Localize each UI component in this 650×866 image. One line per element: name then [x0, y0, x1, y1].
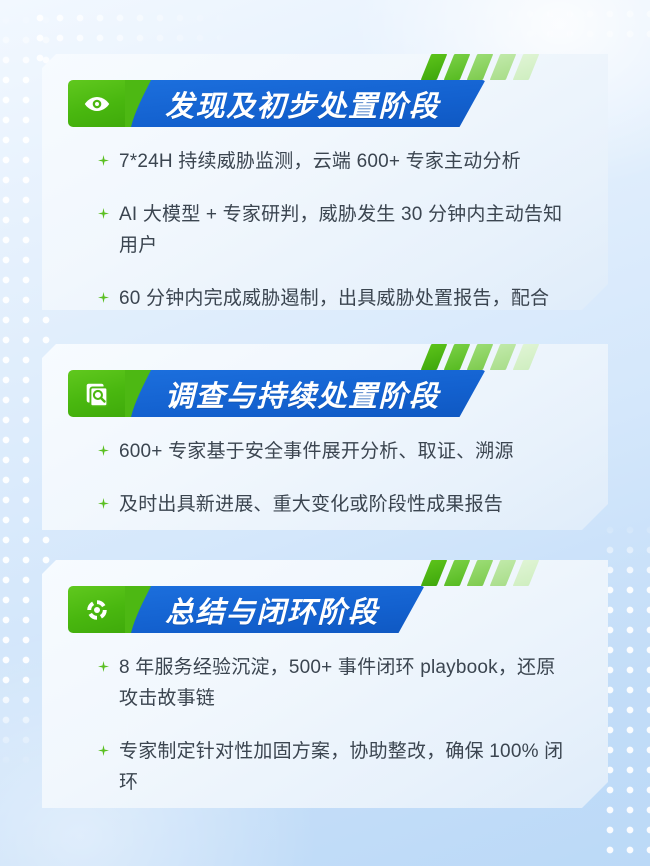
list-item-text: 专家制定针对性加固方案，协助整改，确保 100% 闭环 [119, 736, 568, 798]
sparkle-bullet-icon [98, 155, 112, 166]
sparkle-bullet-icon [98, 661, 112, 672]
card-2-title-banner: 调查与持续处置阶段 [125, 370, 486, 417]
banner-curve-divider [125, 586, 151, 633]
banner-curve-divider [125, 80, 151, 127]
green-stripe-decoration [426, 54, 586, 80]
card-3-bullet-list: 8 年服务经验沉淀，500+ 事件闭环 playbook，还原攻击故事链 专家制… [98, 652, 568, 851]
card-1-title: 发现及初步处置阶段 [165, 83, 440, 125]
card-2-banner: 调查与持续处置阶段 [68, 370, 486, 417]
list-item: 60 分钟内完成威胁遏制，出具威胁处置报告，配合用户初步应答 [98, 283, 568, 345]
list-item-text: 全面复盘，提供完整事件应急响应总结报告 [119, 820, 484, 851]
stage-card-1: 发现及初步处置阶段 7*24H 持续威胁监测，云端 600+ 专家主动分析 AI… [42, 54, 608, 310]
sparkle-bullet-icon [98, 445, 112, 456]
list-item-text: 8 年服务经验沉淀，500+ 事件闭环 playbook，还原攻击故事链 [119, 652, 568, 714]
green-stripe-decoration [426, 344, 586, 370]
card-2-title: 调查与持续处置阶段 [165, 373, 440, 415]
list-item: 全面复盘，提供完整事件应急响应总结报告 [98, 820, 568, 851]
sparkle-bullet-icon [98, 829, 112, 840]
card-2-bullet-list: 600+ 专家基于安全事件展开分析、取证、溯源 及时出具新进展、重大变化或阶段性… [98, 436, 568, 520]
sparkle-bullet-icon [98, 745, 112, 756]
list-item-text: 600+ 专家基于安全事件展开分析、取证、溯源 [119, 436, 514, 467]
card-3-title-banner: 总结与闭环阶段 [125, 586, 425, 633]
document-search-icon [68, 370, 126, 417]
background-dot-pattern-top-right [480, 4, 650, 48]
card-3-banner: 总结与闭环阶段 [68, 586, 425, 633]
sparkle-bullet-icon [98, 208, 112, 219]
green-stripe-decoration [426, 560, 586, 586]
card-3-title: 总结与闭环阶段 [165, 589, 379, 631]
list-item-text: AI 大模型 + 专家研判，威胁发生 30 分钟内主动告知用户 [119, 199, 568, 261]
list-item: AI 大模型 + 专家研判，威胁发生 30 分钟内主动告知用户 [98, 199, 568, 261]
list-item-text: 7*24H 持续威胁监测，云端 600+ 专家主动分析 [119, 146, 521, 177]
card-1-bullet-list: 7*24H 持续威胁监测，云端 600+ 专家主动分析 AI 大模型 + 专家研… [98, 146, 568, 345]
infographic-stage: 发现及初步处置阶段 7*24H 持续威胁监测，云端 600+ 专家主动分析 AI… [0, 0, 650, 866]
list-item-text: 及时出具新进展、重大变化或阶段性成果报告 [119, 489, 503, 520]
list-item: 8 年服务经验沉淀，500+ 事件闭环 playbook，还原攻击故事链 [98, 652, 568, 714]
stage-card-3: 总结与闭环阶段 8 年服务经验沉淀，500+ 事件闭环 playbook，还原攻… [42, 560, 608, 808]
list-item: 600+ 专家基于安全事件展开分析、取证、溯源 [98, 436, 568, 467]
banner-curve-divider [125, 370, 151, 417]
sparkle-bullet-icon [98, 498, 112, 509]
list-item: 及时出具新进展、重大变化或阶段性成果报告 [98, 489, 568, 520]
sparkle-bullet-icon [98, 292, 112, 303]
card-1-banner: 发现及初步处置阶段 [68, 80, 486, 127]
list-item-text: 60 分钟内完成威胁遏制，出具威胁处置报告，配合用户初步应答 [119, 283, 568, 345]
list-item: 7*24H 持续威胁监测，云端 600+ 专家主动分析 [98, 146, 568, 177]
eye-icon [68, 80, 126, 127]
list-item: 专家制定针对性加固方案，协助整改，确保 100% 闭环 [98, 736, 568, 798]
refresh-cycle-icon [68, 586, 126, 633]
card-1-title-banner: 发现及初步处置阶段 [125, 80, 486, 127]
stage-card-2: 调查与持续处置阶段 600+ 专家基于安全事件展开分析、取证、溯源 及时出具新进… [42, 344, 608, 530]
